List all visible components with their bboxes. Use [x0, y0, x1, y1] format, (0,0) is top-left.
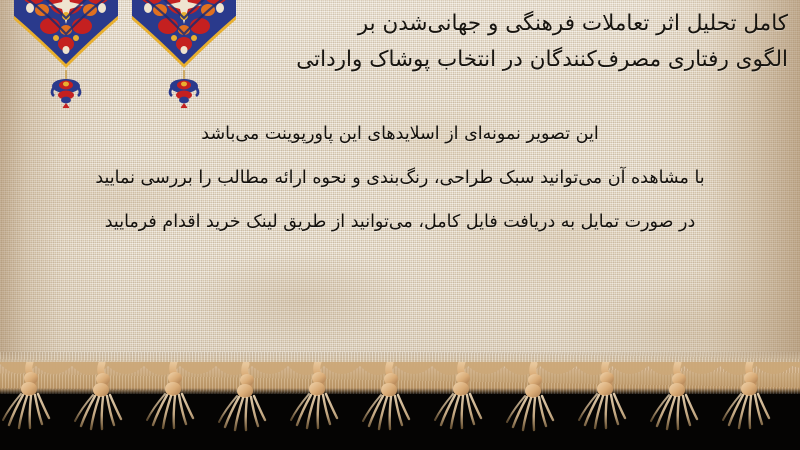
body-line-3: در صورت تمایل به دریافت فایل کامل، می‌تو…	[10, 200, 790, 244]
carpet-fringe-tassels	[0, 362, 800, 450]
title-line-2: الگوی رفتاری مصرف‌کنندگان در انتخاب پوشا…	[242, 42, 788, 78]
slide-body-text: این تصویر نمونه‌ای از اسلایدهای این پاور…	[10, 112, 790, 244]
body-line-2: با مشاهده آن می‌توانید سبک طراحی، رنگ‌بن…	[10, 156, 790, 200]
presentation-slide: کامل تحلیل اثر تعاملات فرهنگی و جهانی‌شد…	[0, 0, 800, 450]
slide-title: کامل تحلیل اثر تعاملات فرهنگی و جهانی‌شد…	[242, 6, 788, 78]
persian-medallion-ornament-right	[132, 0, 236, 108]
title-line-1: کامل تحلیل اثر تعاملات فرهنگی و جهانی‌شد…	[242, 6, 788, 42]
persian-medallion-ornament-left	[14, 0, 118, 108]
body-line-1: این تصویر نمونه‌ای از اسلایدهای این پاور…	[10, 112, 790, 156]
